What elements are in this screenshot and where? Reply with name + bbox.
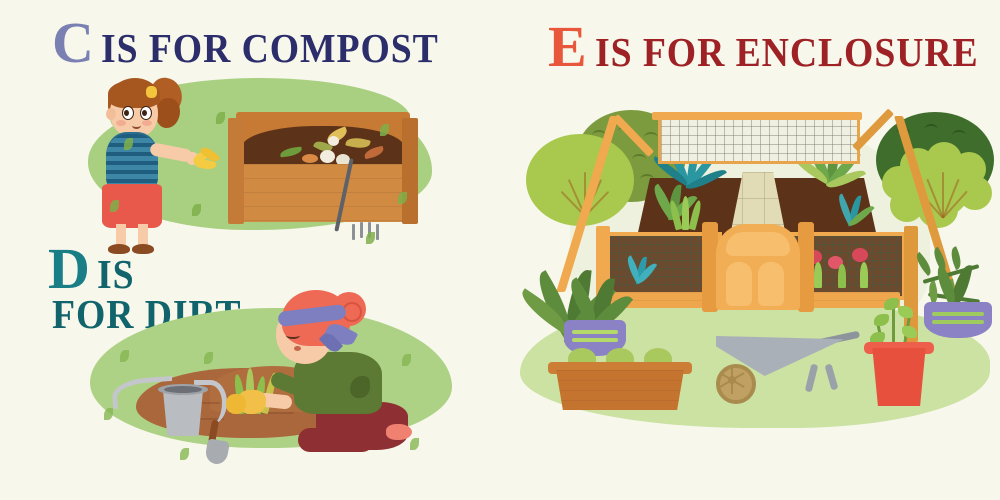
- wheel-hub: [728, 376, 736, 384]
- wheelbarrow-leg: [805, 364, 819, 393]
- scrap-vegetable: [302, 154, 318, 163]
- pupil-right: [142, 110, 147, 116]
- potted-plant-red: [840, 288, 960, 408]
- pupil-left: [124, 110, 129, 116]
- shoe-left: [108, 244, 130, 254]
- lower-leg: [298, 428, 374, 452]
- ear: [106, 108, 116, 120]
- mouth: [294, 346, 301, 351]
- closed-eye: [286, 332, 300, 339]
- book-spread-page: CIS FOR COMPOST DIS FOR DIRT EIS FOR ENC…: [0, 0, 1000, 500]
- wheelbarrow: [716, 336, 856, 394]
- bin-post-left: [228, 118, 244, 224]
- illustration-dirt: [80, 290, 460, 470]
- red-pot-leaf: [874, 314, 889, 326]
- heading-compost: CIS FOR COMPOST: [52, 14, 468, 72]
- red-pot-leaf: [898, 306, 913, 318]
- bin-post-right: [402, 118, 418, 224]
- banana-peel: [192, 148, 222, 176]
- gate-panel-left: [726, 262, 752, 306]
- gate-panel-right: [758, 262, 784, 306]
- red-pot-leaf: [902, 326, 917, 338]
- cheek-right: [142, 120, 152, 126]
- wooden-planter-box: [510, 98, 710, 428]
- illustration-compost: [80, 72, 440, 252]
- ponytail-lower: [156, 98, 180, 128]
- illustration-enclosure: [510, 98, 1000, 468]
- red-pot-body: [868, 348, 930, 406]
- compost-bin: [228, 112, 418, 230]
- box-body: [552, 370, 688, 410]
- grass-tuft: [366, 232, 375, 244]
- wheelbarrow-leg-second: [825, 364, 839, 391]
- plant-fern-right: [824, 178, 880, 228]
- heading-compost-text: IS FOR COMPOST: [101, 28, 439, 69]
- scrap-eggshell-1: [320, 150, 335, 163]
- big-letter-e: E: [548, 18, 587, 76]
- bin-front-wall: [230, 164, 416, 222]
- gate-top-panel: [726, 232, 790, 256]
- hair-tie: [146, 86, 157, 98]
- woman-character: [80, 290, 440, 470]
- gate-post-right: [798, 222, 814, 312]
- shoe-right: [132, 244, 154, 254]
- cheek-left: [116, 120, 126, 126]
- heading-enclosure: EIS FOR ENCLOSURE: [548, 18, 1000, 76]
- foot: [386, 424, 412, 440]
- mouth: [132, 122, 141, 129]
- scrap-eggshell-3: [328, 136, 339, 146]
- red-pot-leaf: [884, 298, 899, 310]
- glove-second: [226, 394, 246, 414]
- big-letter-c: C: [52, 14, 94, 72]
- heading-enclosure-text: IS FOR ENCLOSURE: [595, 32, 979, 73]
- shirt-stain: [350, 376, 370, 398]
